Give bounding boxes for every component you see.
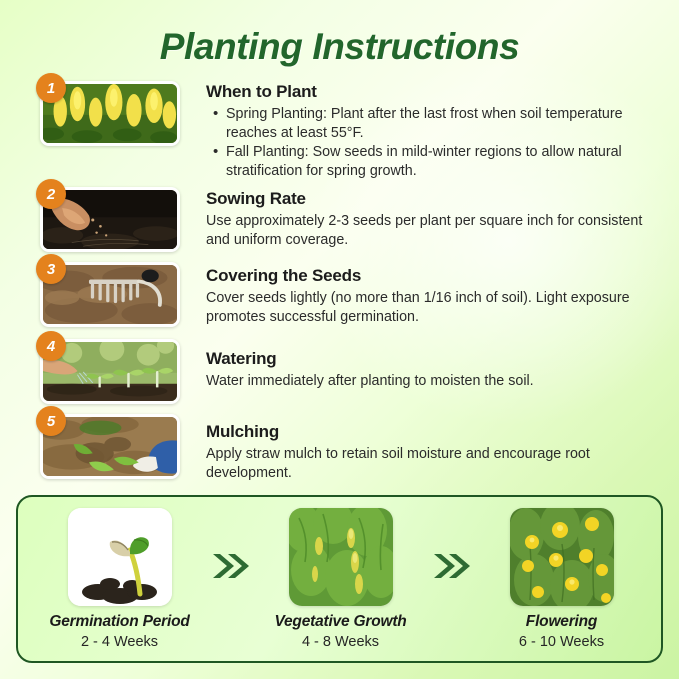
step-text: Covering the Seeds Cover seeds lightly (… (188, 262, 657, 326)
step-bullet-list: Spring Planting: Plant after the last fr… (206, 105, 657, 180)
step-bullet: Fall Planting: Sow seeds in mild-winter … (226, 143, 657, 180)
step-body: Use approximately 2-3 seeds per plant pe… (206, 212, 657, 249)
steps-list: 1 (0, 81, 679, 482)
step-heading: When to Plant (206, 82, 657, 102)
stage-duration: 2 - 4 Weeks (32, 634, 207, 650)
double-chevron-right-icon (207, 551, 253, 581)
timeline-stage: Germination Period 2 - 4 Weeks (32, 508, 207, 650)
sprouting-seed-photo (68, 508, 172, 606)
step-thumbnail-wrap: 1 (40, 81, 188, 146)
step-item: 4 (40, 339, 657, 404)
stage-name: Flowering (474, 613, 649, 631)
timeline-stage: Vegetative Growth 4 - 8 Weeks (253, 508, 428, 650)
step-text: Sowing Rate Use approximately 2-3 seeds … (188, 187, 657, 249)
step-item: 2 (40, 187, 657, 252)
stage-duration: 4 - 8 Weeks (253, 634, 428, 650)
page-title: Planting Instructions (0, 0, 679, 68)
step-item: 1 (40, 81, 657, 181)
step-heading: Watering (206, 349, 657, 369)
step-body: Water immediately after planting to mois… (206, 372, 657, 390)
step-bullet: Spring Planting: Plant after the last fr… (226, 105, 657, 142)
step-thumbnail-wrap: 4 (40, 339, 188, 404)
step-thumbnail-wrap: 3 (40, 262, 188, 327)
step-heading: Sowing Rate (206, 189, 657, 209)
step-text: When to Plant Spring Planting: Plant aft… (188, 81, 657, 181)
step-text: Mulching Apply straw mulch to retain soi… (188, 414, 657, 482)
stage-name: Vegetative Growth (253, 613, 428, 631)
step-body: Cover seeds lightly (no more than 1/16 i… (206, 289, 657, 326)
step-body: Apply straw mulch to retain soil moistur… (206, 445, 657, 482)
double-chevron-right-icon (428, 551, 474, 581)
step-heading: Mulching (206, 422, 657, 442)
step-thumbnail-wrap: 5 (40, 414, 188, 479)
stage-name: Germination Period (32, 613, 207, 631)
timeline-stage: Flowering 6 - 10 Weeks (474, 508, 649, 650)
step-heading: Covering the Seeds (206, 266, 657, 286)
step-text: Watering Water immediately after plantin… (188, 339, 657, 390)
step-item: 3 (40, 262, 657, 327)
step-item: 5 (40, 414, 657, 482)
step-number-badge: 1 (36, 73, 66, 103)
growth-timeline-card: Germination Period 2 - 4 Weeks (16, 495, 663, 663)
green-foliage-photo (289, 508, 393, 606)
planting-instructions-poster: Planting Instructions 1 (0, 0, 679, 679)
yellow-flowers-photo (510, 508, 614, 606)
stage-duration: 6 - 10 Weeks (474, 634, 649, 650)
step-thumbnail-wrap: 2 (40, 187, 188, 252)
